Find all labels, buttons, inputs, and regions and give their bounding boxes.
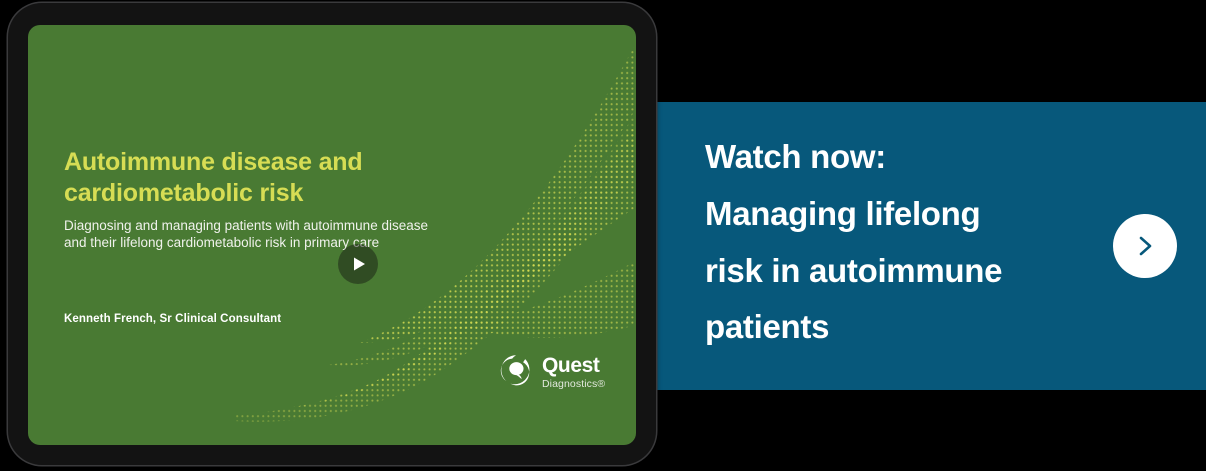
slide-presenter-name: Kenneth French, Sr Clinical Consultant	[64, 313, 281, 325]
promo-panel: Watch now: Managing lifelong risk in aut…	[655, 102, 1206, 390]
tablet-screen[interactable]: Autoimmune disease and cardiometabolic r…	[28, 25, 636, 445]
tablet-device-frame: Autoimmune disease and cardiometabolic r…	[8, 3, 656, 465]
promo-headline: Watch now: Managing lifelong risk in aut…	[705, 129, 1085, 356]
quest-logo-tagline: Diagnostics®	[542, 379, 605, 390]
chevron-right-icon	[1132, 233, 1158, 259]
promo-arrow-button[interactable]	[1113, 214, 1177, 278]
play-triangle-icon	[350, 256, 367, 272]
quest-q-swoosh-icon	[499, 353, 533, 392]
video-play-button[interactable]	[338, 244, 378, 284]
quest-diagnostics-logo: Quest Diagnostics®	[499, 353, 605, 392]
quest-logo-name: Quest	[542, 355, 605, 376]
quest-wordmark: Quest Diagnostics®	[542, 355, 605, 390]
slide-subtitle: Diagnosing and managing patients with au…	[64, 217, 428, 252]
slide-title: Autoimmune disease and cardiometabolic r…	[64, 147, 464, 209]
